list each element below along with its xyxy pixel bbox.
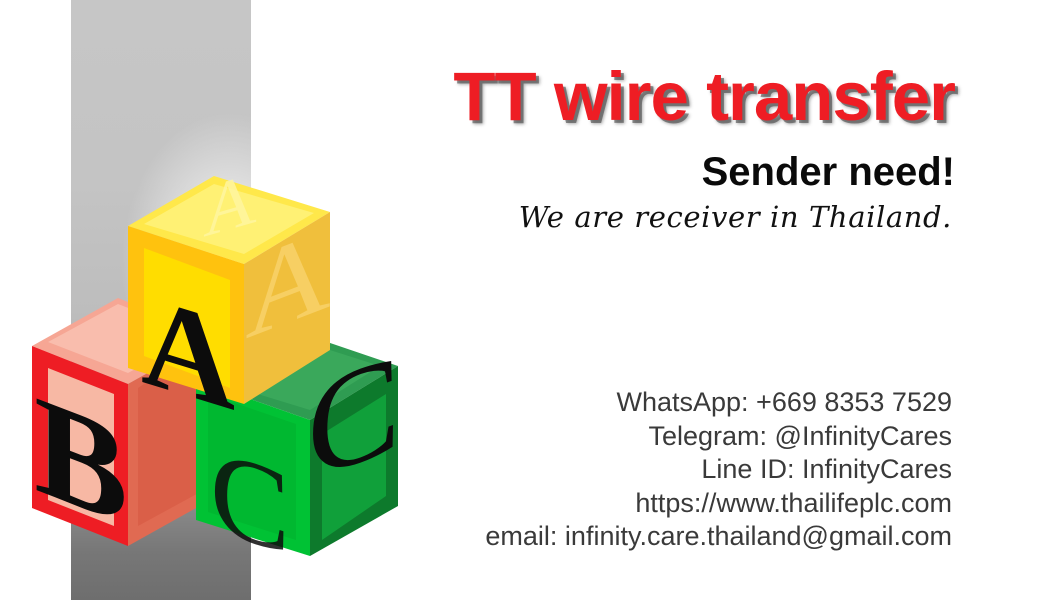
svg-text:A: A	[141, 265, 235, 438]
tagline: We are receiver in Thailand.	[237, 200, 952, 235]
contact-line-website[interactable]: https://www.thailifeplc.com	[237, 487, 952, 521]
contact-line-telegram: Telegram: @InfinityCares	[237, 420, 952, 454]
contact-line-whatsapp: WhatsApp: +669 8353 7529	[237, 386, 952, 420]
contact-block: WhatsApp: +669 8353 7529 Telegram: @Infi…	[237, 386, 952, 554]
contact-line-email[interactable]: email: infinity.care.thailand@gmail.com	[237, 520, 952, 554]
subtitle: Sender need!	[240, 150, 955, 194]
poster-canvas: B C C	[0, 0, 1063, 600]
contact-line-line-id: Line ID: InfinityCares	[237, 453, 952, 487]
text-column: TT wire transfer Sender need! We are rec…	[240, 0, 955, 600]
page-title: TT wire transfer	[240, 62, 955, 131]
